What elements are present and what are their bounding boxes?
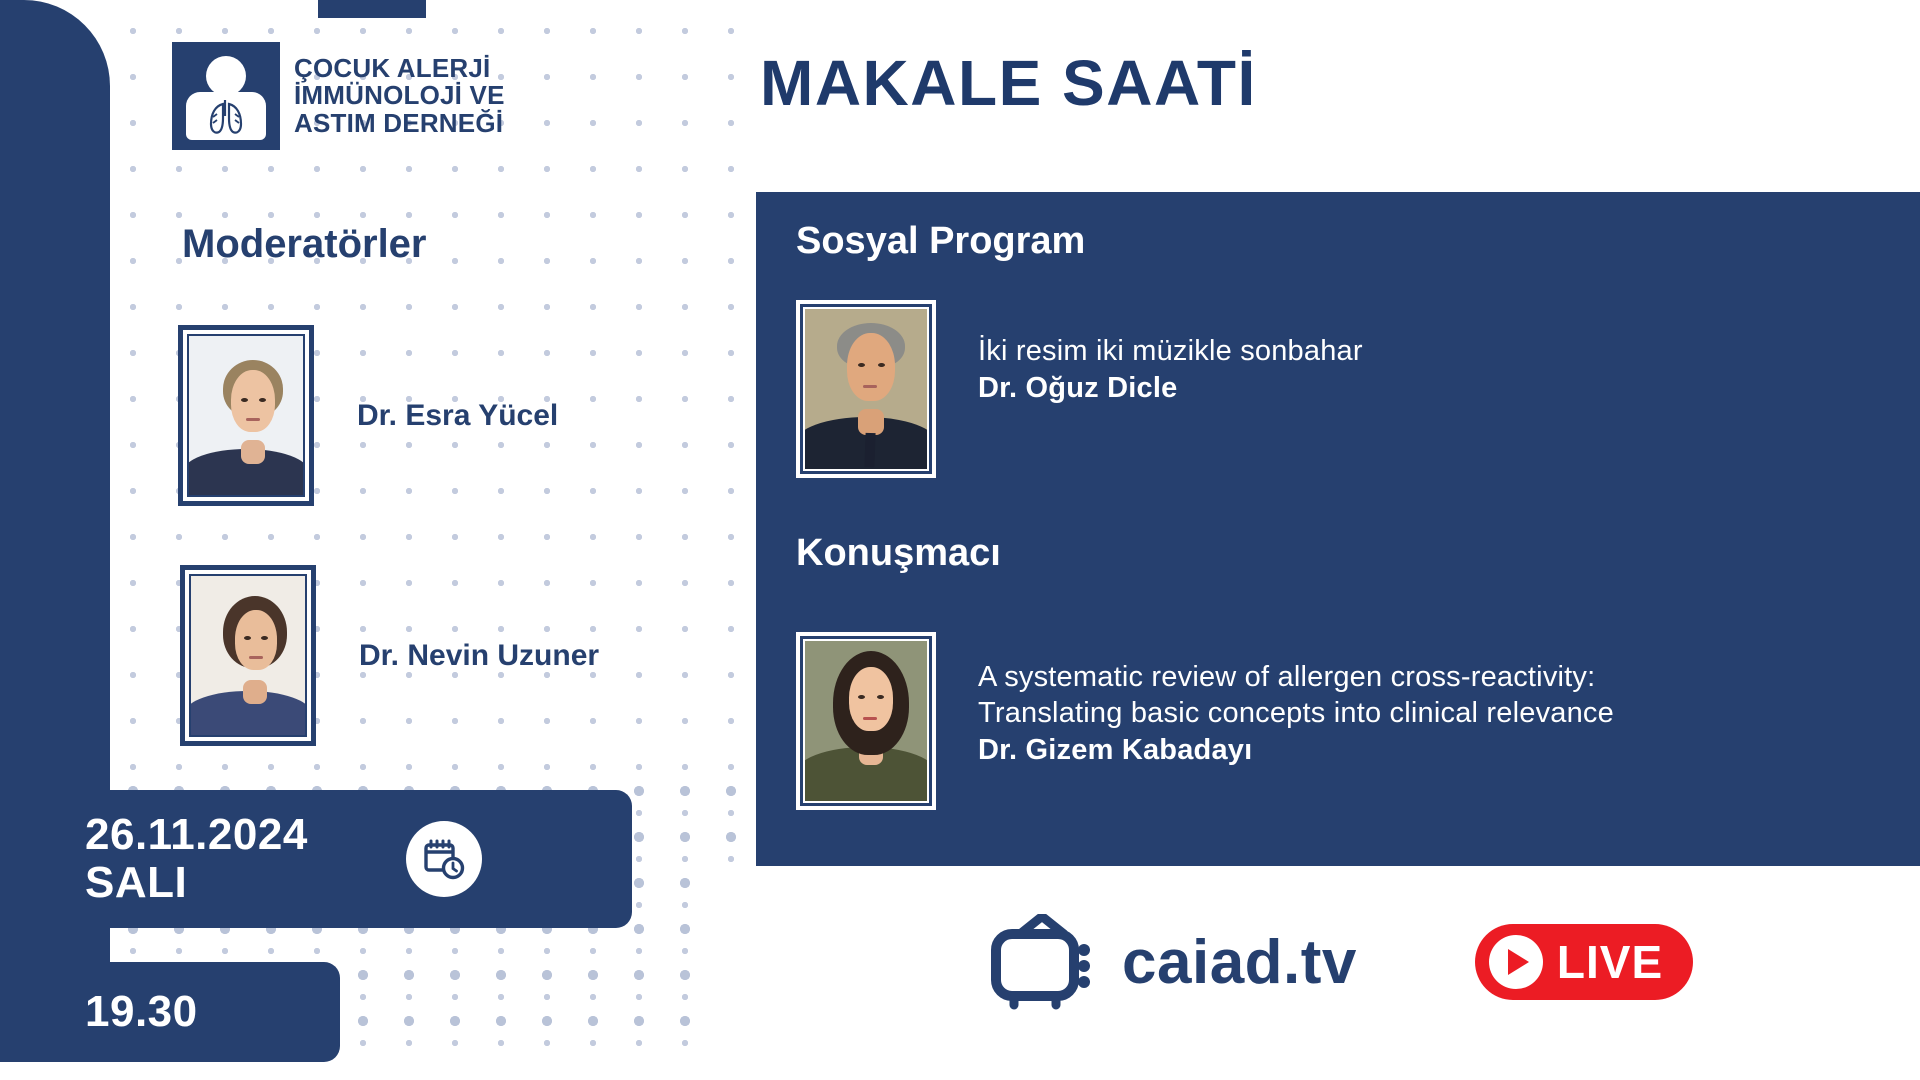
time-badge: 19.30 — [0, 962, 340, 1062]
footer-brand-row: caiad.tv LIVE — [990, 914, 1693, 1010]
social-program-entry: İki resim iki müzikle sonbahar Dr. Oğuz … — [796, 300, 1363, 478]
time-value: 19.30 — [85, 987, 198, 1037]
speaker-title-line-2: Translating basic concepts into clinical… — [978, 696, 1614, 732]
social-program-photo — [796, 300, 936, 478]
logo-lungs-shape — [203, 98, 249, 138]
logo-head-shape — [206, 56, 246, 96]
bottom-strip — [0, 1062, 1920, 1080]
calendar-clock-icon — [406, 821, 482, 897]
date-value: 26.11.2024 — [85, 810, 308, 859]
child-lungs-logo-icon — [172, 42, 280, 150]
moderator-name-1: Dr. Esra Yücel — [357, 399, 558, 433]
moderator-item-2: Dr. Nevin Uzuner — [180, 565, 599, 746]
social-program-heading: Sosyal Program — [796, 220, 1085, 263]
play-icon — [1489, 935, 1543, 989]
moderator-item-1: Dr. Esra Yücel — [178, 325, 558, 506]
date-badge: 26.11.2024 SALI — [0, 790, 632, 928]
moderators-heading: Moderatörler — [182, 222, 427, 267]
television-icon — [990, 914, 1094, 1010]
moderator-photo-1 — [178, 325, 314, 506]
org-name-line-2: İMMÜNOLOJİ VE — [294, 82, 505, 109]
moderator-photo-2 — [180, 565, 316, 746]
live-badge[interactable]: LIVE — [1475, 924, 1693, 1000]
date-text: 26.11.2024 SALI — [85, 811, 308, 906]
organization-logo: ÇOCUK ALERJİ İMMÜNOLOJİ VE ASTIM DERNEĞİ — [172, 42, 505, 150]
speaker-entry: A systematic review of allergen cross-re… — [796, 632, 1614, 810]
top-navy-tab — [318, 0, 426, 18]
org-name-line-1: ÇOCUK ALERJİ — [294, 55, 505, 82]
speaker-title-line-1: A systematic review of allergen cross-re… — [978, 660, 1614, 696]
speaker-heading: Konuşmacı — [796, 532, 1001, 575]
speaker-person: Dr. Gizem Kabadayı — [978, 734, 1614, 767]
day-value: SALI — [85, 859, 308, 907]
speaker-photo — [796, 632, 936, 810]
live-label: LIVE — [1557, 935, 1663, 989]
moderator-name-2: Dr. Nevin Uzuner — [359, 639, 599, 673]
program-panel: Sosyal Program İki resim iki müzikle son… — [756, 192, 1920, 866]
social-program-title: İki resim iki müzikle sonbahar — [978, 334, 1363, 370]
brand-name: caiad.tv — [1122, 927, 1357, 998]
organization-name: ÇOCUK ALERJİ İMMÜNOLOJİ VE ASTIM DERNEĞİ — [294, 55, 505, 137]
page-title: MAKALE SAATİ — [760, 46, 1257, 120]
org-name-line-3: ASTIM DERNEĞİ — [294, 110, 505, 137]
social-program-person: Dr. Oğuz Dicle — [978, 372, 1363, 405]
